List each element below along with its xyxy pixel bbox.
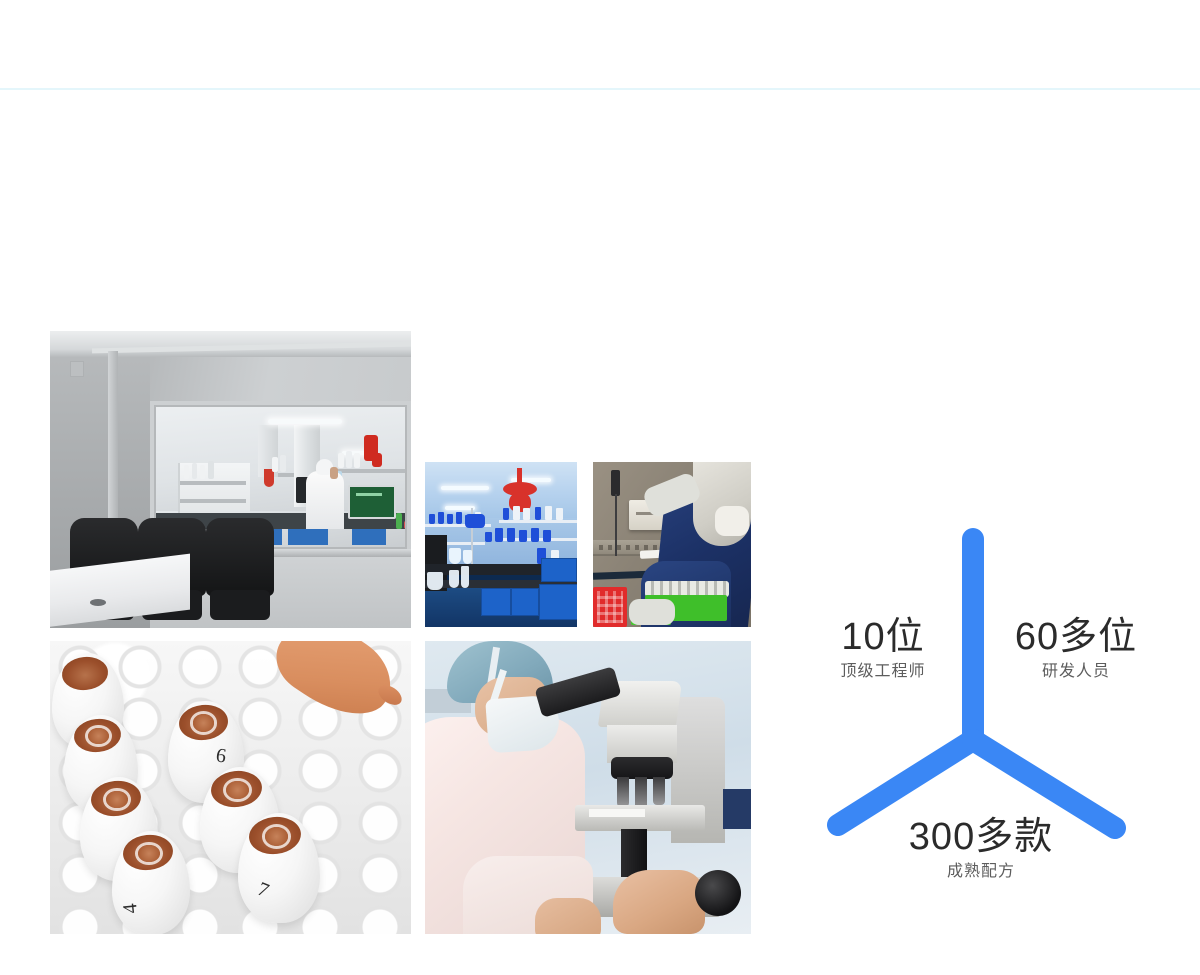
- stat-top-engineers-value: 10位: [808, 618, 958, 658]
- stat-top-engineers: 10位 顶级工程师: [808, 618, 958, 684]
- stat-rd-staff: 60多位 研发人员: [992, 618, 1160, 684]
- product-detail-page: 4 6 7: [0, 0, 1200, 975]
- photo-cleanroom-window: [50, 331, 411, 628]
- stat-rd-staff-value: 60多位: [992, 618, 1160, 658]
- top-divider: [0, 88, 1200, 90]
- y-spoke-right: [973, 740, 1115, 828]
- stat-formulas-value: 300多款: [886, 818, 1076, 858]
- y-spoke-left: [838, 740, 973, 825]
- stat-rd-staff-caption: 研发人员: [992, 660, 1160, 684]
- stat-formulas-caption: 成熟配方: [886, 860, 1076, 884]
- photo-technician-tube-racks: [593, 462, 751, 627]
- photo-laboratory-bench: [425, 462, 577, 627]
- photo-microscope-technician: [425, 641, 751, 934]
- wall-vent-icon: [70, 361, 84, 377]
- stat-top-engineers-caption: 顶级工程师: [808, 660, 958, 684]
- y-shape-capability-chart: 10位 顶级工程师 60多位 研发人员 300多款 成熟配方: [800, 520, 1160, 910]
- stat-formulas: 300多款 成熟配方: [886, 818, 1076, 884]
- photo-numbered-eggs: 4 6 7: [50, 641, 411, 934]
